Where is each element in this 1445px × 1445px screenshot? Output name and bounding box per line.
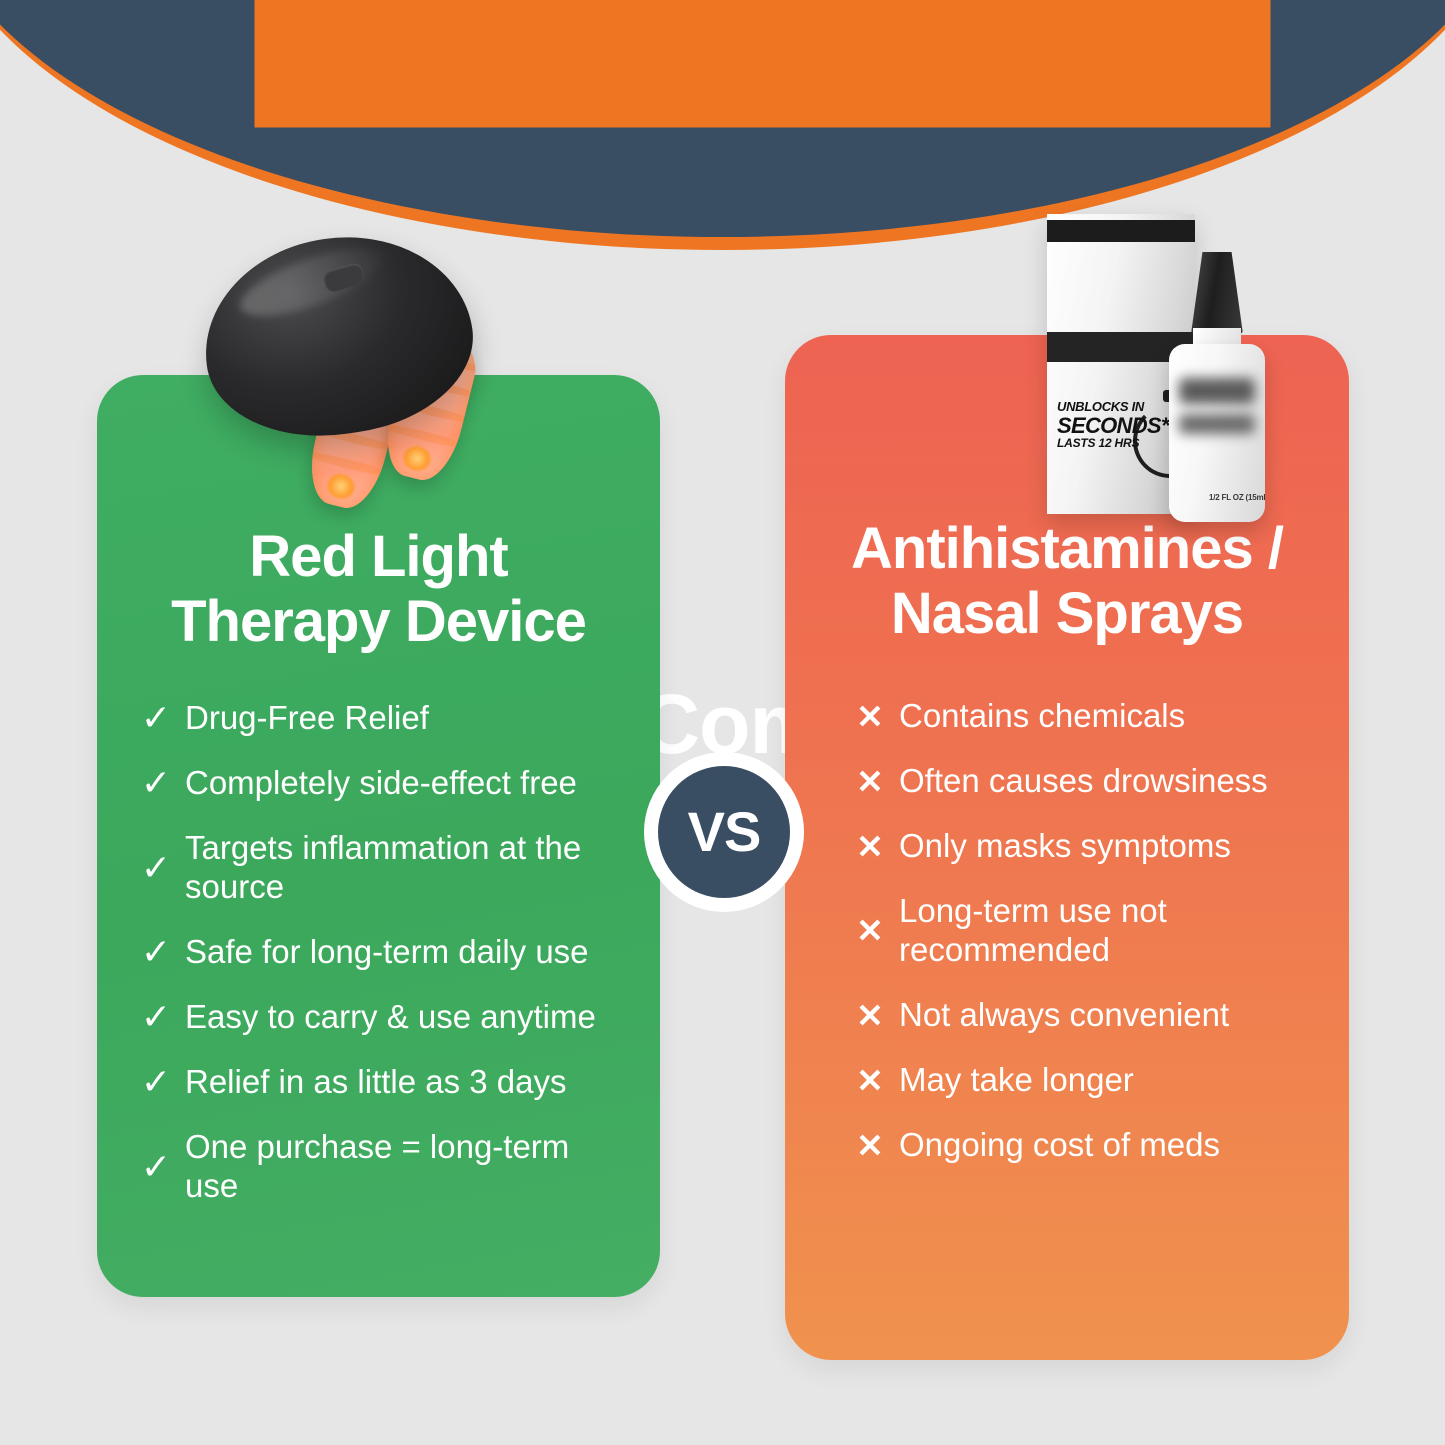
- cross-icon: ✕: [847, 700, 893, 733]
- feature-text: One purchase = long-term use: [179, 1128, 626, 1206]
- feature-text: Contains chemicals: [893, 697, 1309, 736]
- cross-icon: ✕: [847, 1064, 893, 1097]
- comparison-card-red-light-therapy: Red Light Therapy Device ✓ Drug-Free Rel…: [97, 375, 660, 1297]
- feature-text: Only masks symptoms: [893, 827, 1309, 866]
- check-icon: ✓: [133, 850, 179, 886]
- card-title-red-light-therapy: Red Light Therapy Device: [97, 525, 660, 655]
- feature-text: Ongoing cost of meds: [893, 1126, 1309, 1165]
- card-title-line-2: Therapy Device: [97, 590, 660, 655]
- cross-icon: ✕: [847, 765, 893, 798]
- feature-text: Long-term use not recommended: [893, 892, 1309, 970]
- card-title-line-2: Nasal Sprays: [785, 582, 1349, 647]
- feature-text: Easy to carry & use anytime: [179, 998, 626, 1037]
- feature-text: Drug-Free Relief: [179, 699, 626, 738]
- box-claim-line-1: UNBLOCKS IN: [1057, 400, 1169, 414]
- check-icon: ✓: [133, 934, 179, 970]
- red-light-therapy-device-photo: [196, 232, 556, 512]
- bottle-body: 1/2 FL OZ (15mL): [1169, 344, 1265, 522]
- check-icon: ✓: [133, 1149, 179, 1185]
- bottle-label-blur-bottom: [1179, 414, 1255, 434]
- box-claim-line-3: LASTS 12 HRS: [1057, 437, 1169, 450]
- bottle-cap: [1191, 252, 1243, 334]
- check-icon: ✓: [133, 1064, 179, 1100]
- list-item: ✓ Drug-Free Relief: [133, 699, 626, 738]
- list-item: ✓ Completely side-effect free: [133, 764, 626, 803]
- cross-icon: ✕: [847, 1129, 893, 1162]
- list-item: ✓ Safe for long-term daily use: [133, 933, 626, 972]
- check-icon: ✓: [133, 700, 179, 736]
- list-item: ✕ May take longer: [847, 1061, 1309, 1100]
- list-item: ✕ Not always convenient: [847, 996, 1309, 1035]
- cross-icon: ✕: [847, 999, 893, 1032]
- list-item: ✓ One purchase = long-term use: [133, 1128, 626, 1206]
- list-item: ✕ Often causes drowsiness: [847, 762, 1309, 801]
- feature-text: May take longer: [893, 1061, 1309, 1100]
- nasal-spray-product-photo: UNBLOCKS IN SECONDS* LASTS 12 HRS 1/2 FL…: [1035, 206, 1285, 536]
- box-claim-text: UNBLOCKS IN SECONDS* LASTS 12 HRS: [1057, 400, 1169, 449]
- infographic-canvas: Lets Compare Red Light Therapy Device ✓ …: [0, 0, 1445, 1445]
- check-icon: ✓: [133, 999, 179, 1035]
- feature-text: Not always convenient: [893, 996, 1309, 1035]
- bottle-label-blur-top: [1179, 378, 1255, 404]
- feature-text: Targets inflammation at the source: [179, 829, 626, 907]
- bottle-volume-text: 1/2 FL OZ (15mL): [1209, 493, 1265, 502]
- list-item: ✓ Easy to carry & use anytime: [133, 998, 626, 1037]
- vs-badge: VS: [644, 752, 804, 912]
- vs-label: VS: [688, 804, 761, 860]
- list-item: ✓ Relief in as little as 3 days: [133, 1063, 626, 1102]
- device-highlight: [233, 235, 390, 330]
- box-claim-line-2: SECONDS*: [1057, 414, 1169, 437]
- list-item: ✕ Contains chemicals: [847, 697, 1309, 736]
- cross-icon: ✕: [847, 914, 893, 947]
- list-item: ✕ Ongoing cost of meds: [847, 1126, 1309, 1165]
- feature-text: Relief in as little as 3 days: [179, 1063, 626, 1102]
- box-band-top: [1047, 220, 1195, 242]
- feature-list-antihistamines-nasal-sprays: ✕ Contains chemicals ✕ Often causes drow…: [785, 697, 1349, 1191]
- list-item: ✕ Long-term use not recommended: [847, 892, 1309, 970]
- check-icon: ✓: [133, 765, 179, 801]
- feature-text: Often causes drowsiness: [893, 762, 1309, 801]
- card-title-line-1: Red Light: [97, 525, 660, 590]
- list-item: ✕ Only masks symptoms: [847, 827, 1309, 866]
- list-item: ✓ Targets inflammation at the source: [133, 829, 626, 907]
- nasal-spray-bottle: 1/2 FL OZ (15mL): [1163, 252, 1271, 524]
- cross-icon: ✕: [847, 830, 893, 863]
- feature-list-red-light-therapy: ✓ Drug-Free Relief ✓ Completely side-eff…: [97, 699, 660, 1231]
- feature-text: Safe for long-term daily use: [179, 933, 626, 972]
- feature-text: Completely side-effect free: [179, 764, 626, 803]
- card-title-antihistamines-nasal-sprays: Antihistamines / Nasal Sprays: [785, 517, 1349, 647]
